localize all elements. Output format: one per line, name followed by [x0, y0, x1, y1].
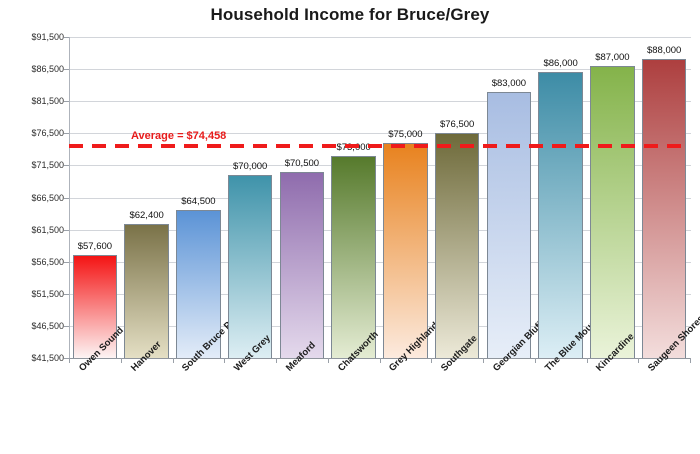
- x-axis-tick-mark: [173, 358, 174, 363]
- bar: [435, 133, 480, 358]
- average-reference-line: [69, 144, 690, 148]
- bar-value-label: $86,000: [543, 58, 577, 69]
- bar: [228, 175, 273, 358]
- x-axis-tick-mark: [121, 358, 122, 363]
- x-axis-tick-mark: [380, 358, 381, 363]
- x-axis-tick-mark: [276, 358, 277, 363]
- bar: [590, 66, 635, 358]
- y-axis-tick-label: $46,500: [4, 321, 64, 331]
- bar-value-label: $83,000: [492, 78, 526, 89]
- bar-value-label: $76,500: [440, 119, 474, 130]
- y-axis-tick-label: $51,500: [4, 289, 64, 299]
- bar: [331, 156, 376, 358]
- x-axis-tick-mark: [638, 358, 639, 363]
- x-axis-tick-mark: [535, 358, 536, 363]
- x-axis-tick-mark: [69, 358, 70, 363]
- x-axis-tick-mark: [587, 358, 588, 363]
- y-axis-tick-label: $76,500: [4, 128, 64, 138]
- bar-value-label: $70,500: [285, 158, 319, 169]
- bar: [538, 72, 583, 358]
- x-axis-tick-mark: [483, 358, 484, 363]
- y-axis-tick-label: $81,500: [4, 96, 64, 106]
- bar-value-label: $87,000: [595, 52, 629, 63]
- bar-value-label: $75,000: [388, 129, 422, 140]
- x-axis-tick-mark: [690, 358, 691, 363]
- bar-value-label: $62,400: [129, 210, 163, 221]
- y-axis-tick-label: $56,500: [4, 257, 64, 267]
- gridline: [70, 37, 691, 38]
- bar: [124, 224, 169, 358]
- bar: [280, 172, 325, 358]
- x-axis-tick-mark: [224, 358, 225, 363]
- bar-value-label: $88,000: [647, 45, 681, 56]
- average-annotation-label: Average = $74,458: [131, 130, 226, 142]
- bar: [383, 143, 428, 358]
- y-axis-tick-label: $91,500: [4, 32, 64, 42]
- x-axis-tick-mark: [328, 358, 329, 363]
- bar: [642, 59, 687, 358]
- chart-title: Household Income for Bruce/Grey: [0, 5, 700, 25]
- x-axis-tick-mark: [431, 358, 432, 363]
- y-axis-tick-label: $86,500: [4, 64, 64, 74]
- y-axis-tick-label: $71,500: [4, 160, 64, 170]
- bar-value-label: $64,500: [181, 196, 215, 207]
- bar-value-label: $70,000: [233, 161, 267, 172]
- y-axis-tick-label: $41,500: [4, 353, 64, 363]
- bar-value-label: $57,600: [78, 241, 112, 252]
- chart-container: Household Income for Bruce/Grey $91,500$…: [0, 0, 700, 454]
- bar: [487, 92, 532, 358]
- y-axis-tick-label: $61,500: [4, 225, 64, 235]
- y-axis-tick-label: $66,500: [4, 193, 64, 203]
